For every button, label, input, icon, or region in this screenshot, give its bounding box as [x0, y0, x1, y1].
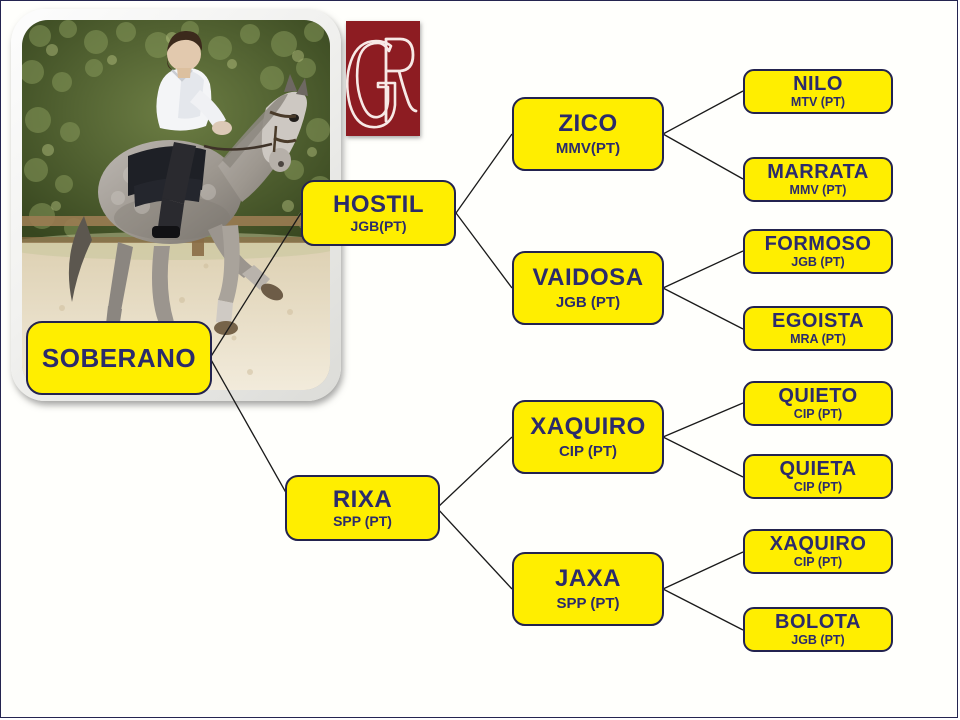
pedigree-name: BOLOTA — [775, 612, 861, 632]
pedigree-box-soberano[interactable]: SOBERANO — [26, 321, 212, 395]
pedigree-sub: MMV(PT) — [556, 141, 620, 156]
pedigree-name: XAQUIRO — [530, 415, 646, 439]
line-zico-nilo — [663, 91, 743, 134]
pedigree-box-jaxa[interactable]: JAXA SPP (PT) — [512, 552, 664, 626]
pedigree-box-vaidosa[interactable]: VAIDOSA JGB (PT) — [512, 251, 664, 325]
pedigree-box-marrata[interactable]: MARRATA MMV (PT) — [743, 157, 893, 202]
pedigree-name: FORMOSO — [765, 234, 872, 254]
line-vaidosa-egoista — [663, 288, 743, 329]
pedigree-sub: SPP (PT) — [333, 514, 392, 528]
line-rixa-xaquiro — [437, 437, 512, 508]
pedigree-name: ZICO — [558, 112, 617, 136]
line-zico-marrata — [663, 134, 743, 179]
pedigree-sub: MTV (PT) — [791, 96, 845, 109]
line-rixa-jaxa — [437, 508, 512, 589]
pedigree-name: SOBERANO — [42, 345, 196, 372]
line-hostil-zico — [456, 134, 512, 213]
pedigree-box-zico[interactable]: ZICO MMV(PT) — [512, 97, 664, 171]
pedigree-sub: JGB (PT) — [556, 295, 620, 310]
gr-monogram-icon — [346, 21, 420, 136]
pedigree-name: EGOISTA — [772, 311, 864, 331]
line-jaxa-xaquiro — [663, 552, 743, 589]
pedigree-name: NILO — [793, 74, 843, 94]
line-hostil-vaidosa — [456, 213, 512, 288]
pedigree-sub: MRA (PT) — [790, 333, 846, 346]
pedigree-sub: CIP (PT) — [559, 444, 617, 459]
pedigree-box-xaquiro-2[interactable]: XAQUIRO CIP (PT) — [743, 529, 893, 574]
pedigree-name: JAXA — [555, 567, 621, 591]
pedigree-box-quieta[interactable]: QUIETA CIP (PT) — [743, 454, 893, 499]
pedigree-box-rixa[interactable]: RIXA SPP (PT) — [285, 475, 440, 541]
pedigree-box-hostil[interactable]: HOSTIL JGB(PT) — [301, 180, 456, 246]
pedigree-sub: MMV (PT) — [790, 184, 847, 197]
pedigree-sub: JGB(PT) — [351, 219, 407, 233]
pedigree-chart-canvas: SOBERANO HOSTIL JGB(PT) RIXA SPP (PT) ZI… — [0, 0, 958, 718]
pedigree-name: XAQUIRO — [770, 534, 867, 554]
pedigree-sub: JGB (PT) — [791, 634, 844, 647]
pedigree-sub: CIP (PT) — [794, 481, 842, 494]
pedigree-name: HOSTIL — [333, 193, 424, 217]
pedigree-name: VAIDOSA — [532, 266, 643, 290]
pedigree-name: QUIETO — [778, 386, 857, 406]
pedigree-sub: CIP (PT) — [794, 556, 842, 569]
pedigree-box-egoista[interactable]: EGOISTA MRA (PT) — [743, 306, 893, 351]
line-vaidosa-formoso — [663, 251, 743, 288]
pedigree-sub: SPP (PT) — [556, 596, 619, 611]
line-jaxa-bolota — [663, 589, 743, 630]
line-xaquiro-quieto — [663, 403, 743, 437]
pedigree-box-bolota[interactable]: BOLOTA JGB (PT) — [743, 607, 893, 652]
pedigree-sub: CIP (PT) — [794, 408, 842, 421]
pedigree-box-nilo[interactable]: NILO MTV (PT) — [743, 69, 893, 114]
gr-logo — [346, 21, 420, 136]
pedigree-box-xaquiro[interactable]: XAQUIRO CIP (PT) — [512, 400, 664, 474]
pedigree-name: RIXA — [333, 488, 392, 512]
line-xaquiro-quieta — [663, 437, 743, 477]
pedigree-box-formoso[interactable]: FORMOSO JGB (PT) — [743, 229, 893, 274]
pedigree-box-quieto[interactable]: QUIETO CIP (PT) — [743, 381, 893, 426]
pedigree-name: QUIETA — [779, 459, 856, 479]
pedigree-sub: JGB (PT) — [791, 256, 844, 269]
pedigree-name: MARRATA — [767, 162, 869, 182]
